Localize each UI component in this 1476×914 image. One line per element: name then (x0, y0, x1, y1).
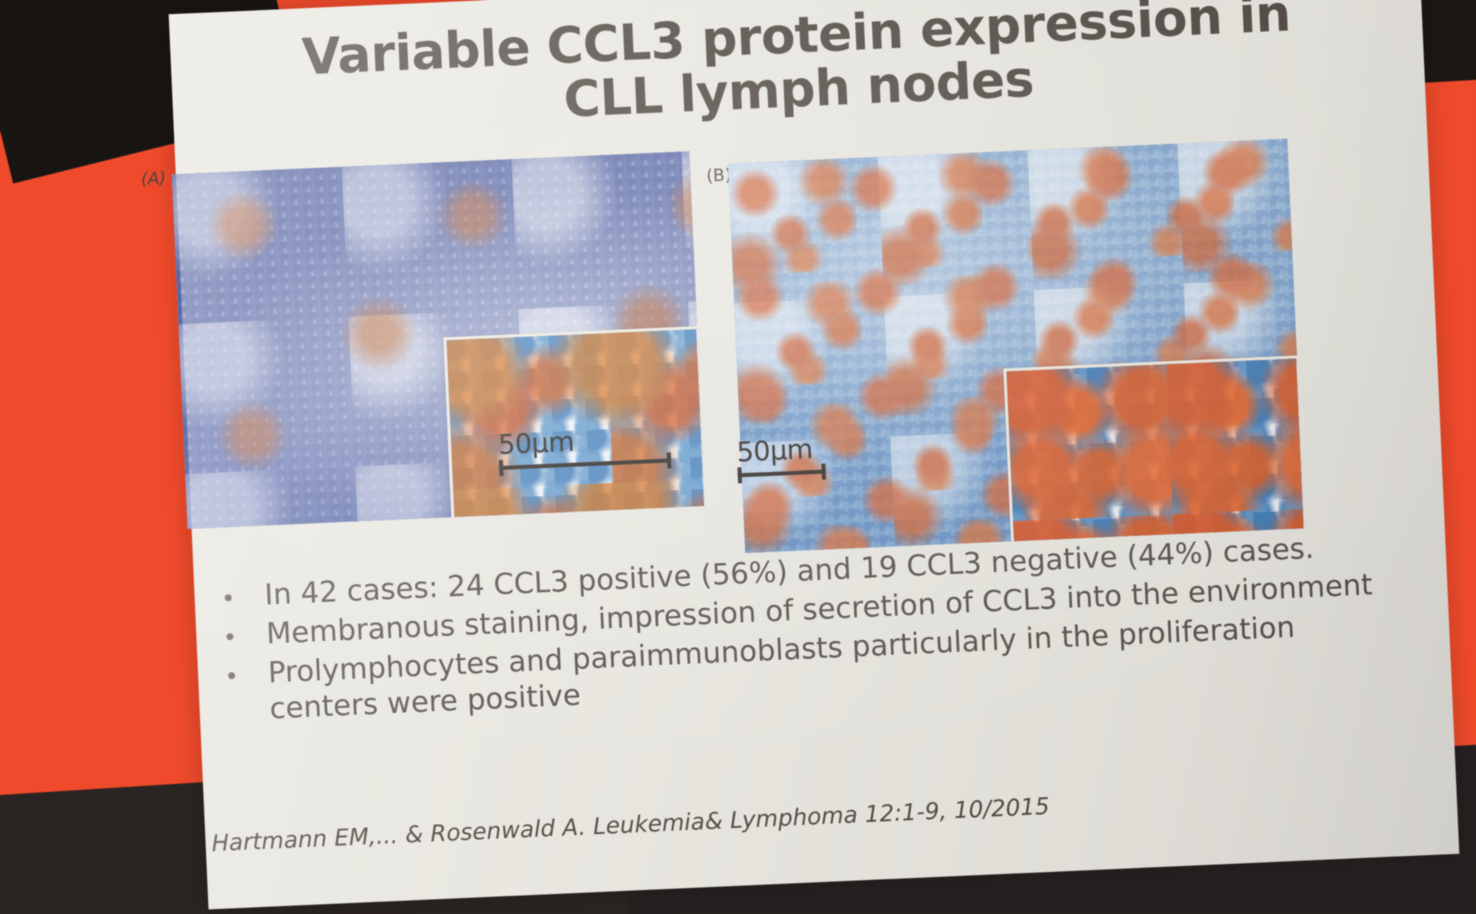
micrograph-panel-b (728, 139, 1305, 554)
inset-ccl3-stain-b (1006, 358, 1304, 553)
presentation-slide: Variable CCL3 protein expression in CLL … (169, 0, 1460, 909)
scale-bar-a: 50µm (498, 424, 672, 470)
scale-bar-a-label: 50µm (498, 424, 671, 459)
scale-bar-b-label: 50µm (736, 436, 825, 467)
panel-label-a: (A) (141, 169, 167, 190)
figure-area: (A) 50µm (B) (175, 108, 1444, 573)
slide-content: Variable CCL3 protein expression in CLL … (169, 0, 1460, 909)
scale-bar-b: 50µm (736, 436, 826, 478)
photographed-slide-frame: Variable CCL3 protein expression in CLL … (0, 0, 1476, 914)
micrograph-panel-a (172, 151, 705, 529)
citation-reference: Hartmann EM,... & Rosenwald A. Leukemia&… (211, 787, 1211, 857)
magnified-inset-b (1003, 355, 1304, 553)
